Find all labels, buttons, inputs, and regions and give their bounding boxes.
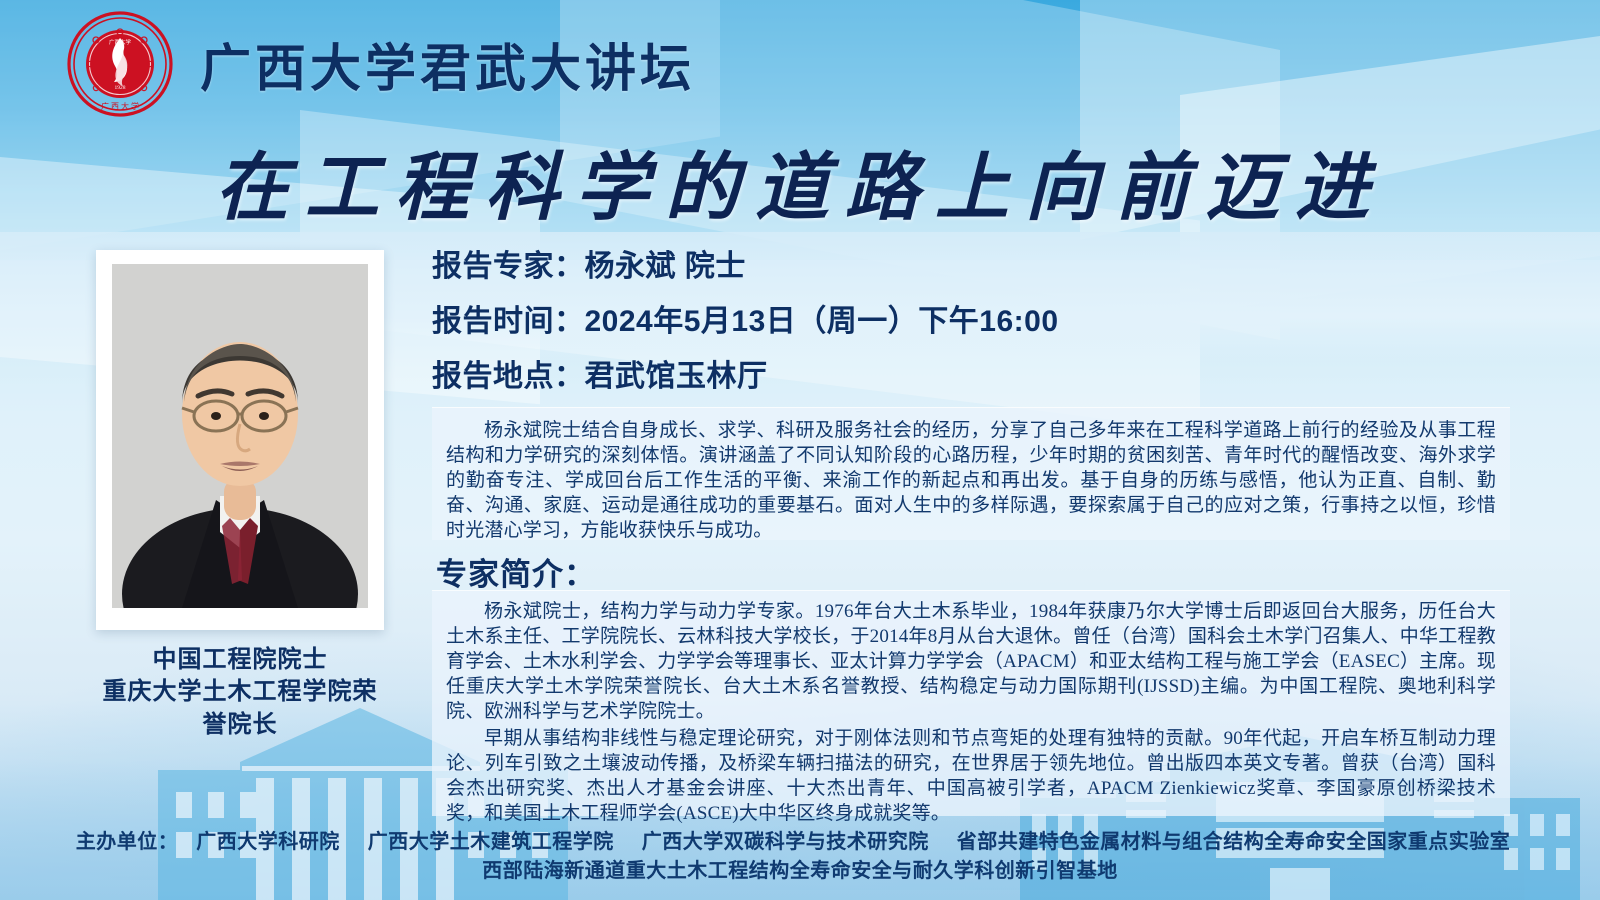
footer-org-1: 广西大学科研院 [196, 831, 340, 853]
abstract-text: 杨永斌院士结合自身成长、求学、科研及服务社会的经历，分享了自己多年来在工程科学道… [446, 418, 1496, 543]
abstract-panel: 杨永斌院士结合自身成长、求学、科研及服务社会的经历，分享了自己多年来在工程科学道… [432, 407, 1510, 540]
footer-row-2: 西部陆海新通道重大土木工程结构全寿命安全与耐久学科创新引智基地 [0, 857, 1600, 886]
page-title: 在工程科学的道路上向前迈进 [0, 128, 1600, 235]
portrait-block: 中国工程院院士 重庆大学土木工程学院荣誉院长 [96, 250, 384, 741]
guangxi-university-seal-logo: 广西大学 1928 广 西 大 学 [66, 10, 174, 118]
footer-row-1: 主办单位：广西大学科研院广西大学土木建筑工程学院广西大学双碳科学与技术研究院省部… [0, 828, 1600, 857]
footer-label: 主办单位： [76, 831, 179, 853]
footer-organizers: 主办单位：广西大学科研院广西大学土木建筑工程学院广西大学双碳科学与技术研究院省部… [0, 828, 1600, 886]
footer-org-4: 省部共建特色金属材料与组合结构全寿命安全国家重点实验室 [957, 831, 1511, 853]
svg-text:1928: 1928 [115, 85, 126, 91]
portrait-frame [96, 250, 384, 630]
event-info-block: 报告专家：杨永斌 院士 报告时间：2024年5月13日（周一）下午16:00 报… [432, 252, 1512, 417]
bio-paragraph-2: 早期从事结构非线性与稳定理论研究，对于刚体法则和节点弯矩的处理有独特的贡献。90… [446, 726, 1496, 826]
svg-text:广西大学: 广西大学 [109, 38, 132, 46]
footer-org-3: 广西大学双碳科学与技术研究院 [642, 831, 929, 853]
brand-title: 广西大学君武大讲坛 [200, 27, 695, 101]
footer-org-2: 广西大学土木建筑工程学院 [368, 831, 614, 853]
time-line: 报告时间：2024年5月13日（周一）下午16:00 [432, 307, 1512, 337]
bio-heading: 专家简介： [436, 549, 596, 594]
bio-paragraph-1: 杨永斌院士，结构力学与动力学专家。1976年台大土木系毕业，1984年获康乃尔大… [446, 599, 1496, 724]
poster-root: 广西大学 1928 广 西 大 学 广西大学君武大讲坛 在工程科学的道路上向前迈… [0, 0, 1600, 900]
speaker-line: 报告专家：杨永斌 院士 [432, 252, 1512, 282]
portrait-caption-line-1: 中国工程院院士 [96, 644, 384, 676]
speaker-portrait-photo [112, 264, 368, 608]
portrait-caption: 中国工程院院士 重庆大学土木工程学院荣誉院长 [96, 644, 384, 741]
bio-panel: 杨永斌院士，结构力学与动力学专家。1976年台大土木系毕业，1984年获康乃尔大… [432, 590, 1510, 816]
venue-line: 报告地点：君武馆玉林厅 [432, 362, 1512, 392]
svg-text:广 西 大 学: 广 西 大 学 [101, 101, 139, 111]
portrait-caption-line-2: 重庆大学土木工程学院荣誉院长 [96, 676, 384, 741]
poster-header: 广西大学 1928 广 西 大 学 广西大学君武大讲坛 [0, 0, 1600, 128]
